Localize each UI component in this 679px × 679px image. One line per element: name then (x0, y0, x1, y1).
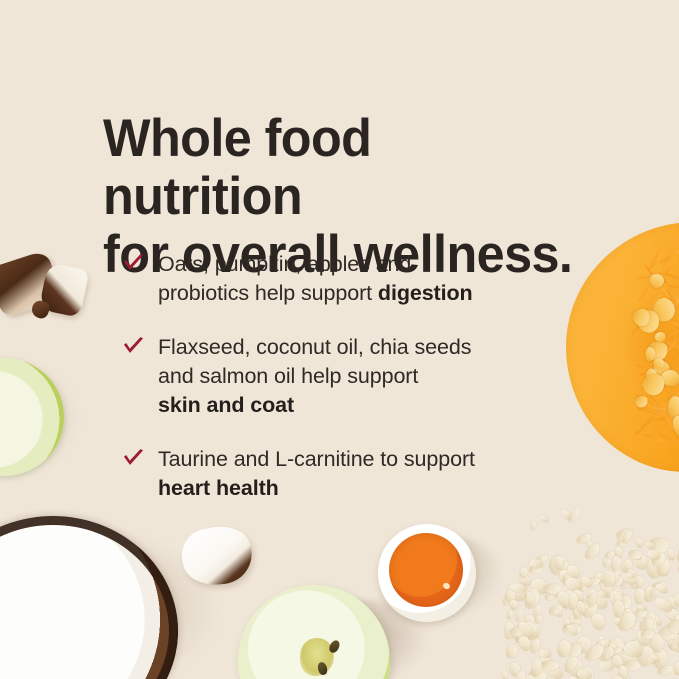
benefit-emphasis: heart health (158, 476, 279, 500)
benefit-text: Oats, pumpkin, apples and probiotics hel… (158, 252, 411, 305)
benefit-emphasis: digestion (378, 281, 473, 305)
benefit-item: Oats, pumpkin, apples and probiotics hel… (122, 250, 582, 308)
check-icon (122, 449, 145, 469)
benefit-item: Flaxseed, coconut oil, chia seeds and sa… (122, 333, 582, 420)
benefits-list: Oats, pumpkin, apples and probiotics hel… (122, 250, 582, 503)
benefit-item: Taurine and L-carnitine to support heart… (122, 445, 582, 503)
benefit-text: Flaxseed, coconut oil, chia seeds and sa… (158, 335, 471, 388)
benefit-emphasis: skin and coat (158, 393, 294, 417)
benefit-text: Taurine and L-carnitine to support (158, 447, 475, 471)
check-icon (122, 337, 145, 357)
text-content: Whole food nutrition for overall wellnes… (0, 0, 679, 679)
check-icon (122, 254, 145, 274)
product-benefits-banner: Whole food nutrition for overall wellnes… (0, 0, 679, 679)
